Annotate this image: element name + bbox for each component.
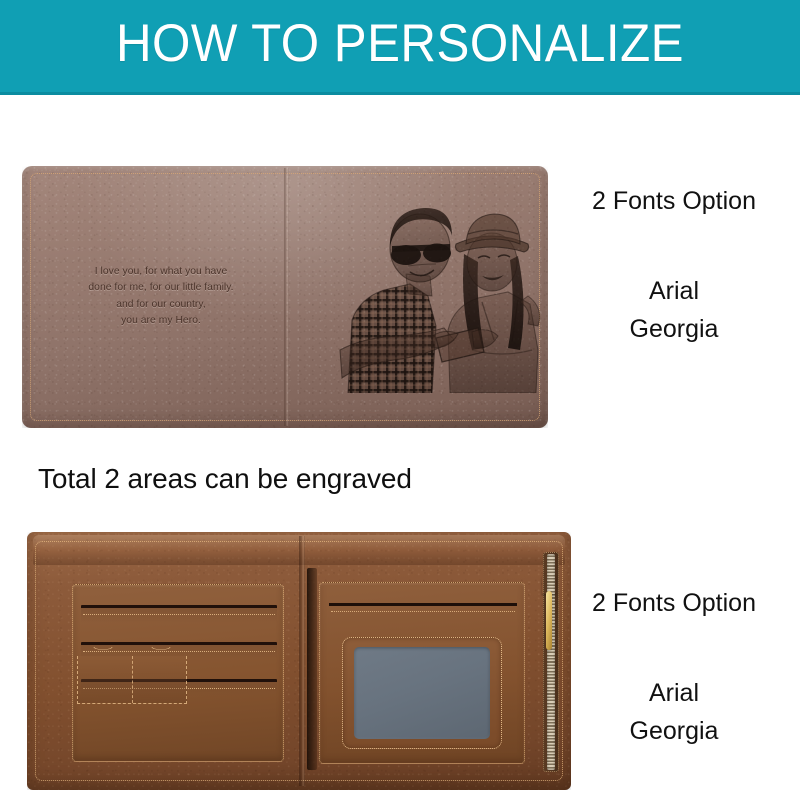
inner-bill-compartment (307, 568, 317, 770)
font-option-arial: Arial (548, 276, 800, 306)
page-title: HOW TO PERSONALIZE (28, 14, 772, 74)
font-option-arial: Arial (548, 678, 800, 708)
engraved-line: you are my Hero. (58, 313, 264, 329)
engraved-photo-area (332, 200, 544, 393)
engraved-line: I love you, for what you have (58, 264, 264, 280)
fonts-option-block-bottom: 2 Fonts Option Arial Georgia (548, 588, 800, 746)
wallet-fold-crease (284, 168, 289, 426)
engraved-line: done for me, for our little family. (58, 280, 264, 296)
fonts-option-block-top: 2 Fonts Option Arial Georgia (548, 186, 800, 344)
fonts-option-title: 2 Fonts Option (548, 588, 800, 618)
wallet-fold-crease (299, 536, 305, 786)
infographic-page: HOW TO PERSONALIZE I love you, for what … (0, 0, 800, 800)
engraved-message-area: I love you, for what you have done for m… (58, 264, 264, 330)
font-option-georgia: Georgia (548, 716, 800, 746)
pocket-divider (132, 656, 133, 703)
header-banner: HOW TO PERSONALIZE (0, 0, 800, 95)
center-pocket (77, 656, 187, 704)
id-window (354, 647, 490, 739)
font-option-georgia: Georgia (548, 314, 800, 344)
card-slot (329, 603, 517, 625)
id-window-panel (319, 582, 525, 764)
engraved-wallet-image: I love you, for what you have done for m… (22, 166, 548, 428)
id-window-frame (342, 637, 502, 749)
fonts-option-title: 2 Fonts Option (548, 186, 800, 216)
engrave-areas-note: Total 2 areas can be engraved (38, 462, 412, 496)
engraved-line: and for our country, (58, 297, 264, 313)
wallet-interior-image (27, 532, 571, 790)
card-slot (81, 605, 277, 641)
